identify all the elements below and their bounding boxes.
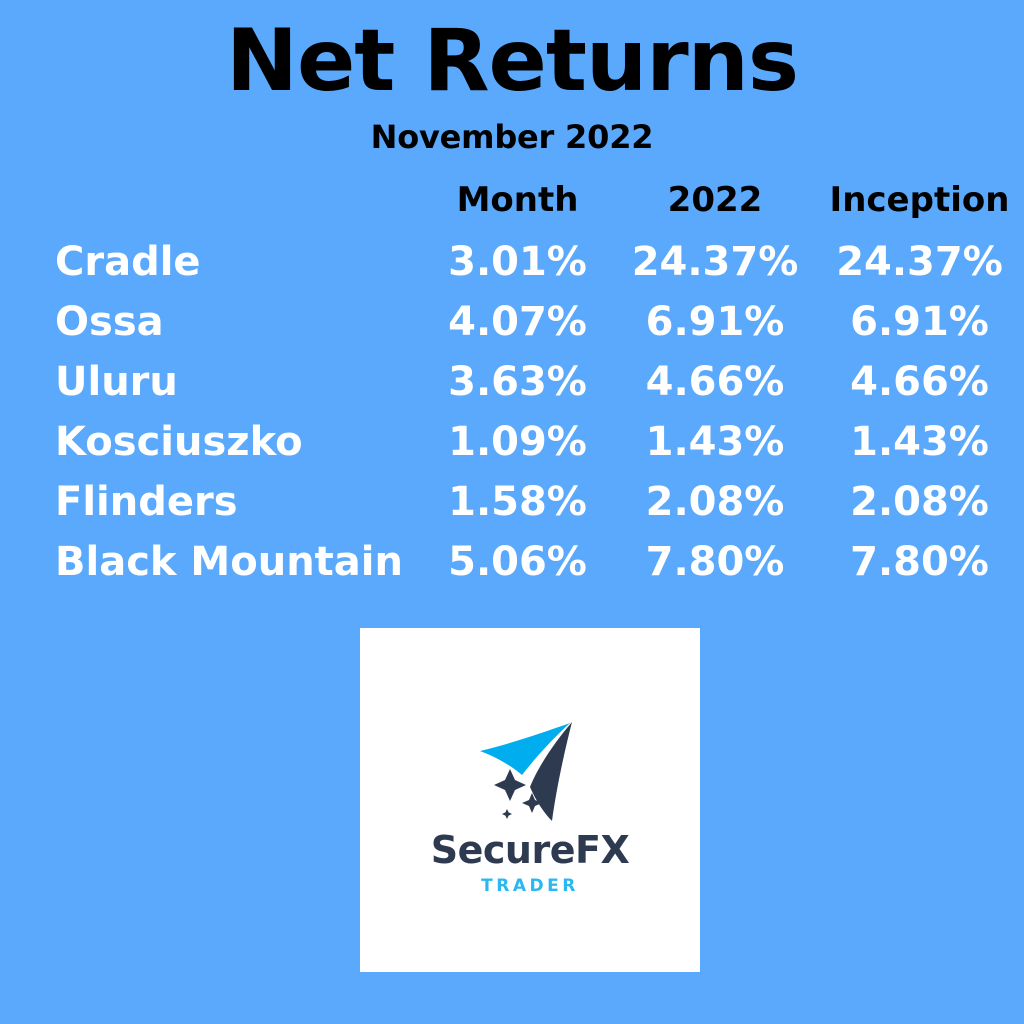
cell-2022: 7.80% <box>615 532 815 592</box>
logo-wordmark: SecureFX <box>431 831 630 869</box>
cell-month: 5.06% <box>420 532 615 592</box>
page-header: Net Returns November 2022 <box>0 0 1024 156</box>
column-header-name <box>0 176 420 232</box>
cell-2022: 24.37% <box>615 232 815 292</box>
row-label: Cradle <box>0 232 420 292</box>
cell-month: 3.01% <box>420 232 615 292</box>
cell-inception: 24.37% <box>815 232 1024 292</box>
page-subtitle: November 2022 <box>0 106 1024 156</box>
row-label: Flinders <box>0 472 420 532</box>
cell-inception: 7.80% <box>815 532 1024 592</box>
cell-month: 1.09% <box>420 412 615 472</box>
table-row: Cradle 3.01% 24.37% 24.37% <box>0 232 1024 292</box>
cell-inception: 2.08% <box>815 472 1024 532</box>
row-label: Kosciuszko <box>0 412 420 472</box>
returns-table-container: Month 2022 Inception Cradle 3.01% 24.37%… <box>0 176 1024 592</box>
logo-card: SecureFX TRADER <box>360 628 700 972</box>
logo-tagline: TRADER <box>481 878 579 895</box>
cell-2022: 4.66% <box>615 352 815 412</box>
paper-plane-sparkles-icon <box>470 717 590 827</box>
column-header-inception: Inception <box>815 176 1024 232</box>
cell-2022: 1.43% <box>615 412 815 472</box>
page-title: Net Returns <box>0 6 1024 106</box>
row-label: Uluru <box>0 352 420 412</box>
table-row: Flinders 1.58% 2.08% 2.08% <box>0 472 1024 532</box>
table-row: Uluru 3.63% 4.66% 4.66% <box>0 352 1024 412</box>
column-header-2022: 2022 <box>615 176 815 232</box>
column-header-month: Month <box>420 176 615 232</box>
table-row: Black Mountain 5.06% 7.80% 7.80% <box>0 532 1024 592</box>
cell-2022: 6.91% <box>615 292 815 352</box>
table-header-row: Month 2022 Inception <box>0 176 1024 232</box>
cell-month: 4.07% <box>420 292 615 352</box>
cell-inception: 6.91% <box>815 292 1024 352</box>
cell-inception: 1.43% <box>815 412 1024 472</box>
cell-inception: 4.66% <box>815 352 1024 412</box>
cell-month: 1.58% <box>420 472 615 532</box>
row-label: Black Mountain <box>0 532 420 592</box>
logo-lockup: SecureFX TRADER <box>431 717 630 895</box>
cell-month: 3.63% <box>420 352 615 412</box>
cell-2022: 2.08% <box>615 472 815 532</box>
row-label: Ossa <box>0 292 420 352</box>
table-row: Kosciuszko 1.09% 1.43% 1.43% <box>0 412 1024 472</box>
returns-table: Month 2022 Inception Cradle 3.01% 24.37%… <box>0 176 1024 592</box>
table-row: Ossa 4.07% 6.91% 6.91% <box>0 292 1024 352</box>
